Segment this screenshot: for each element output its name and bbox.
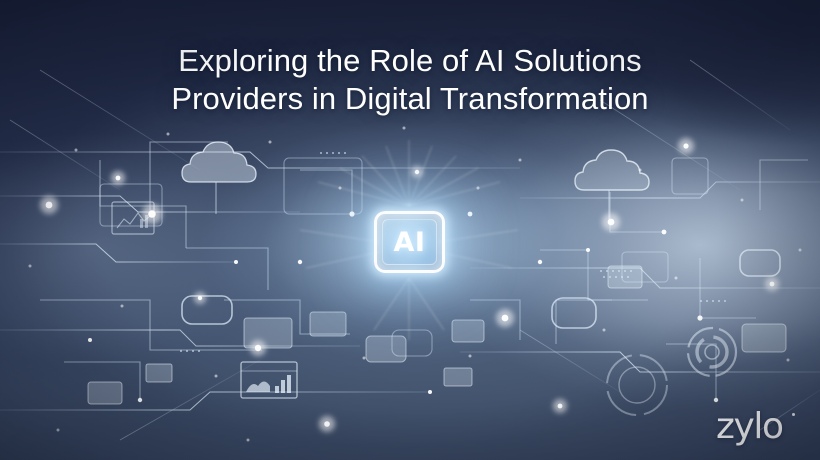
registered-trademark-icon (792, 413, 795, 416)
zylo-logo[interactable]: zylo (716, 406, 794, 448)
page-title-line-2: Providers in Digital Transformation (0, 80, 820, 118)
hero-banner: AI Exploring the Role of AI Solutions Pr… (0, 0, 820, 460)
ai-chip-label: AI (394, 229, 426, 256)
zylo-logo-text: zylo (716, 406, 783, 447)
ai-chip-icon: AI (374, 211, 445, 273)
page-title: Exploring the Role of AI Solutions Provi… (0, 42, 820, 118)
page-title-line-1: Exploring the Role of AI Solutions (0, 42, 820, 80)
